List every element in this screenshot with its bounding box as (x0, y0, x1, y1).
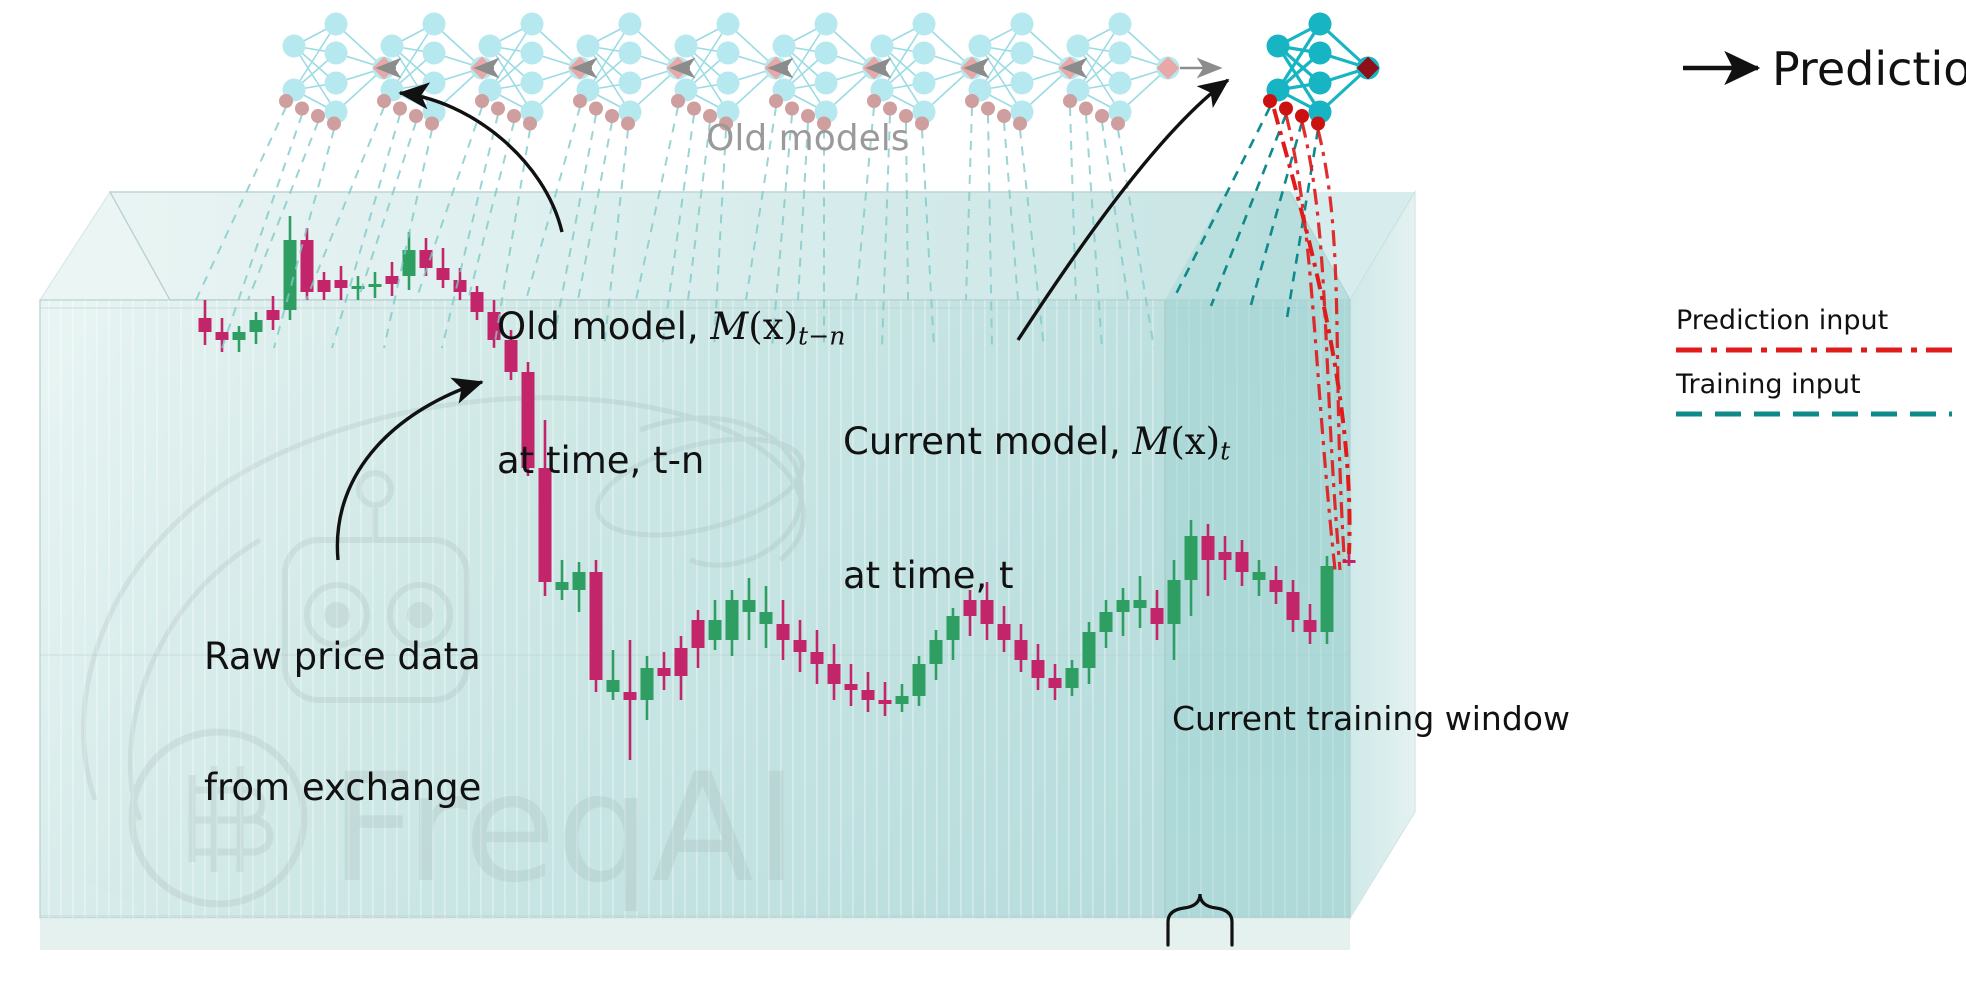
network-node (1109, 42, 1132, 65)
network-node (815, 13, 838, 36)
network-node (521, 42, 544, 65)
model-input-dot (1013, 117, 1027, 131)
model-input-dot (475, 94, 489, 108)
model-input-dot (1311, 117, 1325, 131)
network-node (1109, 13, 1132, 36)
model-input-dot (997, 109, 1011, 123)
current-model-annotation-line2: at time, t (843, 554, 1230, 598)
network-node (1267, 35, 1290, 58)
model-input-dot (491, 102, 505, 116)
model-input-dot (507, 109, 521, 123)
candle-body (318, 280, 331, 292)
model-input-dot (883, 102, 897, 116)
model-input-dot (311, 109, 325, 123)
model-input-dot (687, 102, 701, 116)
network-node (521, 72, 544, 95)
old-model-annotation-line1: Old model, M(x)t−n (497, 305, 845, 351)
model-input-dot (425, 117, 439, 131)
candle-body (216, 332, 229, 340)
candle-body (590, 572, 603, 680)
model-input-dot (327, 117, 341, 131)
model-input-dot (671, 94, 685, 108)
candle-body (1236, 552, 1249, 572)
candle-body (1321, 566, 1334, 632)
candle-body (743, 600, 756, 612)
network-node (717, 72, 740, 95)
model-input-dot (589, 102, 603, 116)
model-input-dot (621, 117, 635, 131)
network-node (619, 72, 642, 95)
network-node (325, 42, 348, 65)
model-input-dot (1279, 102, 1293, 116)
candle-body (879, 700, 892, 704)
network-node (521, 13, 544, 36)
network-node (969, 35, 992, 58)
network-node (773, 35, 796, 58)
model-input-dot (867, 94, 881, 108)
candle-body (675, 648, 688, 676)
candle-body (1304, 620, 1317, 632)
network-node (619, 42, 642, 65)
candle-body (607, 680, 620, 692)
candle-body (369, 284, 382, 287)
prediction-label: Prediction (1772, 42, 1966, 96)
network-node (1011, 13, 1034, 36)
candle-body (658, 668, 671, 676)
network-node (423, 42, 446, 65)
current-training-window-label: Current training window (1172, 700, 1570, 739)
candle-body (811, 652, 824, 664)
network-node (619, 13, 642, 36)
candle-body (624, 692, 637, 700)
network-node (675, 35, 698, 58)
model-input-dot (1063, 94, 1077, 108)
model-input-dot (915, 117, 929, 131)
network-node (423, 72, 446, 95)
model-input-dot (1111, 117, 1125, 131)
candle-body (454, 280, 467, 292)
diagram-canvas: FreqAI Old models Predict (0, 0, 1966, 981)
candle-body (1270, 580, 1283, 592)
legend-label-prediction-input: Prediction input (1676, 305, 1888, 337)
current-model-annotation: Current model, M(x)t at time, t (843, 333, 1230, 685)
network-node (1309, 72, 1332, 95)
candle-body (641, 668, 654, 700)
old-model-annotation: Old model, M(x)t−n at time, t-n (497, 218, 845, 570)
candle-body (437, 268, 450, 280)
model-input-dot (295, 102, 309, 116)
model-input-dot (279, 94, 293, 108)
prism-bottom-slab (40, 918, 1350, 950)
old-models-label: Old models (706, 118, 909, 160)
candle-body (862, 690, 875, 700)
network-node (1309, 13, 1332, 36)
network-node (717, 13, 740, 36)
candle-body (777, 624, 790, 640)
candle-body (335, 280, 348, 288)
candle-body (556, 582, 569, 590)
network-node (913, 72, 936, 95)
network-node (325, 72, 348, 95)
current-model-annotation-line1: Current model, M(x)t (843, 420, 1230, 466)
candle-body (1253, 572, 1266, 580)
network-node (913, 42, 936, 65)
network-node (325, 13, 348, 36)
network-node (871, 35, 894, 58)
model-input-dot (981, 102, 995, 116)
model-input-dot (1079, 102, 1093, 116)
candle-body (471, 292, 484, 312)
candle-body (794, 640, 807, 652)
network-node (479, 35, 502, 58)
raw-price-annotation: Raw price data from exchange (204, 548, 481, 897)
model-input-dot (605, 109, 619, 123)
network-node (577, 35, 600, 58)
old-models-group (279, 13, 1180, 131)
model-input-dot (1095, 109, 1109, 123)
candle-body (828, 664, 841, 684)
model-input-dot (377, 94, 391, 108)
candle-body (1287, 592, 1300, 620)
candle-body (726, 600, 739, 640)
legend-label-training-input: Training input (1676, 369, 1861, 401)
raw-price-annotation-line2: from exchange (204, 766, 481, 810)
network-node (1309, 42, 1332, 65)
network-node (1011, 42, 1034, 65)
network-node (381, 35, 404, 58)
candle-body (250, 320, 263, 332)
network-node (1067, 35, 1090, 58)
candle-body (845, 684, 858, 690)
candle-body (760, 612, 773, 624)
network-node (1011, 72, 1034, 95)
candle-body (709, 620, 722, 640)
model-input-dot (965, 94, 979, 108)
network-node (423, 13, 446, 36)
model-input-dot (1295, 109, 1309, 123)
model-input-dot (785, 102, 799, 116)
old-model-annotation-line2: at time, t-n (497, 439, 845, 483)
model-input-dot (409, 109, 423, 123)
candle-body (573, 572, 586, 590)
current-model-network (1263, 13, 1380, 131)
model-input-dot (523, 117, 537, 131)
model-input-dot (573, 94, 587, 108)
prism-right-face (1350, 192, 1415, 918)
candle-body (386, 276, 399, 284)
network-node (815, 42, 838, 65)
network-node (717, 42, 740, 65)
candle-body (896, 696, 909, 704)
candle-body (284, 240, 297, 310)
candle-body (199, 318, 212, 332)
candle-body (233, 332, 246, 340)
model-input-dot (1263, 94, 1277, 108)
raw-price-annotation-line1: Raw price data (204, 635, 481, 679)
model-input-dot (393, 102, 407, 116)
network-node (815, 72, 838, 95)
candle-body (692, 620, 705, 648)
candle-body (267, 310, 280, 320)
model-input-dot (769, 94, 783, 108)
network-node (913, 13, 936, 36)
network-node (1109, 72, 1132, 95)
network-node (283, 35, 306, 58)
